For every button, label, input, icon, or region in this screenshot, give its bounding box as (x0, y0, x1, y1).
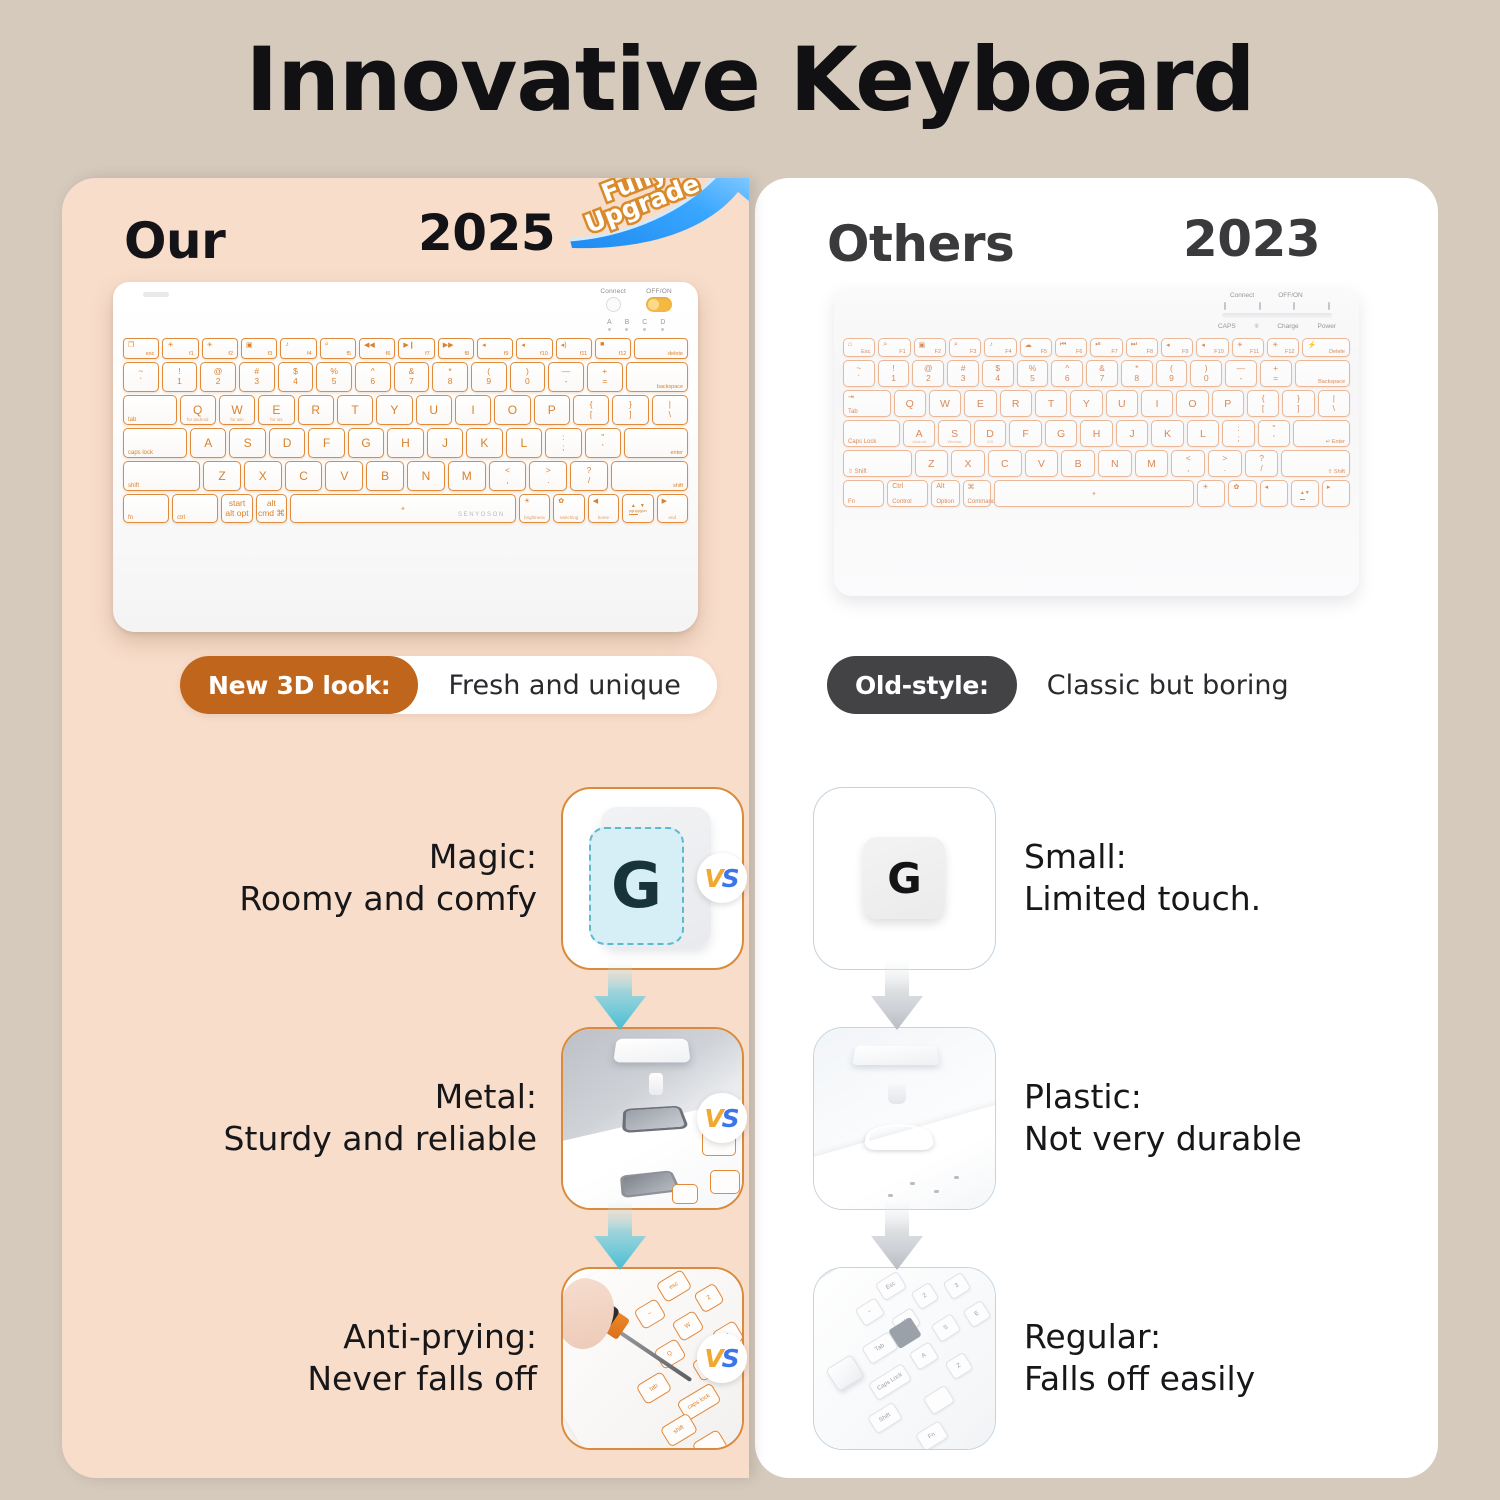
falling-keys-illustration: Esc 2 3 ~ W S E Tab A Z Caps Lock Shift … (814, 1268, 995, 1449)
left-panel-label: Our (124, 212, 225, 270)
key-\[interactable]: |\ (1318, 390, 1350, 417)
key-command[interactable]: ⌘Command (963, 480, 991, 507)
key-'[interactable]: "' (1258, 420, 1290, 447)
connect-button-icon[interactable] (606, 297, 621, 312)
vs-badge-row-1: VS (697, 853, 747, 903)
our-keyboard-status-cluster: Connect OFF/ON A B C D (600, 288, 672, 331)
our-keyboard-topbar: Connect OFF/ON A B C D (119, 282, 692, 338)
fully-upgrade-text: Fully Upgrade (574, 178, 703, 236)
left-tagline: New 3D look: Fresh and unique (180, 656, 717, 714)
key-5[interactable]: %5 (316, 362, 352, 392)
key-9[interactable]: (9 (1156, 360, 1188, 387)
key-7[interactable]: &7 (1086, 360, 1118, 387)
key-row: fnctrlstartalt optaltcmd ⌘✦SENYOSON☀brig… (119, 494, 692, 526)
key-delete[interactable]: ⚡Delete (1302, 338, 1350, 357)
others-keyboard: Connect OFF/ON CAPS ⌾ (834, 288, 1359, 596)
feature-desc: Roomy and comfy (239, 878, 537, 920)
key-f2[interactable]: ▣F2 (914, 338, 946, 357)
key-b[interactable]: B (1061, 450, 1095, 477)
key-h[interactable]: H (387, 428, 423, 458)
key-g[interactable]: G (1045, 420, 1077, 447)
key-f12[interactable]: ☀F12 (1267, 338, 1299, 357)
key-f10[interactable]: ◂F10 (1196, 338, 1228, 357)
key-f5[interactable]: ☁F5 (1020, 338, 1052, 357)
key-8[interactable]: *8 (1121, 360, 1153, 387)
feature-title: Plastic: (1024, 1076, 1302, 1118)
key-e[interactable]: E (964, 390, 996, 417)
key-row: caps lockASDFGHJKL:;"'enter (119, 428, 692, 461)
left-feature-rows: Magic: Roomy and comfy G Metal: Sturdy a… (62, 758, 749, 1478)
feature-title: Small: (1024, 836, 1261, 878)
key-tab[interactable]: ⇥Tab (843, 390, 891, 417)
key-0[interactable]: )0 (1190, 360, 1222, 387)
key--[interactable]: —- (1225, 360, 1257, 387)
our-keyboard-keys[interactable]: ❐esc☀f1☀f2▣f3♪f4⌕f5◀◀f6▶❙f7▶▶f8◂f9◂f10◂)… (119, 338, 692, 526)
key--[interactable]: —- (548, 362, 584, 392)
key-7[interactable]: &7 (394, 362, 430, 392)
key-f4[interactable]: ♪F4 (984, 338, 1016, 357)
power-label: OFF/ON (646, 288, 672, 295)
key-option[interactable]: AltOption (931, 480, 959, 507)
key-m[interactable]: M (448, 461, 486, 491)
key-][interactable]: }] (1282, 390, 1314, 417)
key-◂[interactable]: ◂ (1260, 480, 1288, 507)
key-f1[interactable]: ☀f1 (162, 338, 198, 359)
key-z[interactable]: Z (203, 461, 241, 491)
vs-s: S (722, 864, 740, 893)
key-x[interactable]: X (951, 450, 985, 477)
key-][interactable]: }] (612, 395, 648, 425)
right-feature-rows: G Small: Limited touch. (755, 758, 1438, 1478)
led-indicator: B (625, 319, 630, 331)
key-f8[interactable]: ⏭F8 (1126, 338, 1158, 357)
led-indicator-group: A B C D (600, 319, 672, 331)
key-f9[interactable]: ◂F9 (1161, 338, 1193, 357)
key-/[interactable]: ?/ (570, 461, 608, 491)
key-▸[interactable]: ▸ (1322, 480, 1350, 507)
key-2[interactable]: @2 (912, 360, 944, 387)
right-panel-year: 2023 (1183, 210, 1320, 268)
key-▶[interactable]: ▶end (657, 494, 688, 523)
key-arrow-half[interactable]: ▲pgup (629, 502, 638, 516)
key-tab[interactable]: tab (123, 395, 177, 425)
figure-small-key: G (813, 787, 996, 970)
key-[[interactable]: {[ (1247, 390, 1279, 417)
key-f7[interactable]: ▶❙f7 (398, 338, 434, 359)
blue-arrow-icon (562, 178, 749, 264)
key-f4[interactable]: ♪f4 (280, 338, 316, 359)
key-/[interactable]: ?/ (1245, 450, 1279, 477)
key-z[interactable]: Z (915, 450, 949, 477)
right-panel-label: Others (827, 215, 1014, 273)
key-row: FnCtrlControlAltOption⌘Command✦☀✿◂▲▼▸ (839, 480, 1354, 510)
key-o[interactable]: O (1176, 390, 1208, 417)
key-row: ⌂Esc⌕F1▣F2⌕F3♪F4☁F5⏮F6⏯F7⏭F8◂F9◂F10☀F11☀… (839, 338, 1354, 360)
key-f11[interactable]: ◂)f11 (556, 338, 592, 359)
key-f12[interactable]: ■f12 (595, 338, 631, 359)
key-,[interactable]: <, (1171, 450, 1205, 477)
key-⇧-shift[interactable]: ⇧ Shift (843, 450, 912, 477)
plastic-clip-illustration (814, 1028, 995, 1209)
key-d[interactable]: D (269, 428, 305, 458)
key-y[interactable]: Y (1070, 390, 1102, 417)
status-tick (1293, 302, 1295, 310)
feature-desc: Falls off easily (1024, 1358, 1255, 1400)
key-4[interactable]: $4 (982, 360, 1014, 387)
key-f9[interactable]: ◂f9 (477, 338, 513, 359)
key-row: tabQfor androidWfor winEfor iosRTYUIOP{[… (119, 395, 692, 428)
key-l[interactable]: L (1187, 420, 1219, 447)
vs-s: S (722, 1344, 740, 1373)
key-t[interactable]: T (337, 395, 373, 425)
feature-title: Regular: (1024, 1316, 1255, 1358)
right-tagline: Old-style: Classic but boring (827, 656, 1289, 714)
led-indicator: C (642, 319, 647, 331)
key-n[interactable]: N (407, 461, 445, 491)
feature-row-anti-prying: Anti-prying: Never falls off esc 2 ~ W S… (62, 1238, 749, 1478)
vs-s: S (722, 1104, 740, 1133)
key-row: ~`!1@2#3$4%5^6&7*8(9)0—-+=Backspace (839, 360, 1354, 390)
connect-control[interactable]: Connect (600, 288, 626, 312)
connect-label: Connect (1230, 292, 1254, 299)
key-f11[interactable]: ☀F11 (1232, 338, 1264, 357)
key-fn[interactable]: Fn (843, 480, 884, 507)
status-bottom-labels: CAPS ⌾ Charge Power (1216, 318, 1338, 331)
key-3[interactable]: #3 (239, 362, 275, 392)
charge-label: Charge (1277, 323, 1298, 331)
key-c[interactable]: C (285, 461, 323, 491)
key-r[interactable]: R (298, 395, 334, 425)
key-`[interactable]: ~` (123, 362, 159, 392)
key-h[interactable]: H (1080, 420, 1112, 447)
power-status-label: Power (1318, 323, 1336, 331)
key-d[interactable]: DiOS (974, 420, 1006, 447)
key-8[interactable]: *8 (432, 362, 468, 392)
key-q[interactable]: Q (894, 390, 926, 417)
key-q[interactable]: Qfor android (180, 395, 216, 425)
feature-text-metal: Metal: Sturdy and reliable (224, 1076, 537, 1160)
key-5[interactable]: %5 (1017, 360, 1049, 387)
key-f2[interactable]: ☀f2 (202, 338, 238, 359)
key-☀[interactable]: ☀ (1197, 480, 1225, 507)
key-w[interactable]: Wfor win (219, 395, 255, 425)
key-esc[interactable]: ⌂Esc (843, 338, 875, 357)
key-f7[interactable]: ⏯F7 (1090, 338, 1122, 357)
key-`[interactable]: ~` (843, 360, 875, 387)
key-c[interactable]: C (988, 450, 1022, 477)
badge-line-1: Fully (574, 178, 694, 215)
key-6[interactable]: ^6 (1051, 360, 1083, 387)
key-w[interactable]: W (929, 390, 961, 417)
left-tagline-chip: New 3D look: (180, 656, 418, 714)
key-u[interactable]: U (1106, 390, 1138, 417)
key-backspace[interactable]: Backspace (1295, 360, 1351, 387)
key-3[interactable]: #3 (947, 360, 979, 387)
key-4[interactable]: $4 (278, 362, 314, 392)
key-✿[interactable]: ✿switching (553, 494, 584, 523)
key-t[interactable]: T (1035, 390, 1067, 417)
key-=[interactable]: += (587, 362, 623, 392)
right-tagline-text: Classic but boring (1017, 670, 1289, 701)
key-space[interactable]: ✦SENYOSON (290, 494, 516, 523)
key-f6[interactable]: ◀◀f6 (359, 338, 395, 359)
right-panel-header: Others 2023 (755, 178, 1438, 274)
others-keyboard-keys[interactable]: ⌂Esc⌕F1▣F2⌕F3♪F4☁F5⏮F6⏯F7⏭F8◂F9◂F10☀F11☀… (839, 338, 1354, 510)
key-f6[interactable]: ⏮F6 (1055, 338, 1087, 357)
led-indicator: A (607, 319, 612, 331)
feature-text-magic: Magic: Roomy and comfy (239, 836, 537, 920)
badge-line-2: Upgrade (582, 178, 702, 236)
key-1[interactable]: !1 (162, 362, 198, 392)
key-⇧-shift[interactable]: ⇧ Shift (1281, 450, 1350, 477)
feature-title: Anti-prying: (307, 1316, 537, 1358)
connect-label: Connect (600, 288, 626, 295)
key-fn[interactable]: fn (123, 494, 169, 523)
page-title: Innovative Keyboard (0, 0, 1500, 129)
key-f3[interactable]: ⌕F3 (949, 338, 981, 357)
down-arrow-teal-2 (592, 1200, 648, 1272)
right-tagline-chip: Old-style: (827, 656, 1017, 714)
key-f5[interactable]: ⌕f5 (320, 338, 356, 359)
key-control[interactable]: CtrlControl (887, 480, 928, 507)
key-j[interactable]: J (1116, 420, 1148, 447)
key-i[interactable]: I (1141, 390, 1173, 417)
key-ctrl[interactable]: ctrl (172, 494, 218, 523)
key-◀[interactable]: ◀home (588, 494, 619, 523)
led-indicator: D (660, 319, 665, 331)
feature-text-anti-prying: Anti-prying: Never falls off (307, 1316, 537, 1400)
key-arrow-stack[interactable]: ▲▼ (1291, 480, 1319, 507)
feature-text-plastic: Plastic: Not very durable (1024, 1076, 1302, 1160)
our-keyboard-figure: Connect OFF/ON A B C D (62, 282, 749, 632)
caps-label: CAPS (1218, 323, 1236, 331)
key-r[interactable]: R (1000, 390, 1032, 417)
key-0[interactable]: )0 (510, 362, 546, 392)
key-f3[interactable]: ▣f3 (241, 338, 277, 359)
our-keyboard: Connect OFF/ON A B C D (113, 282, 698, 632)
feature-text-small: Small: Limited touch. (1024, 836, 1261, 920)
key-s[interactable]: SWindow (938, 420, 970, 447)
key-;[interactable]: :; (545, 428, 581, 458)
key-e[interactable]: Efor ios (258, 395, 294, 425)
left-tagline-text: Fresh and unique (418, 670, 680, 701)
others-keyboard-figure: Connect OFF/ON CAPS ⌾ (755, 288, 1438, 596)
key-6[interactable]: ^6 (355, 362, 391, 392)
key-space[interactable]: ✦ (994, 480, 1195, 507)
feature-desc: Limited touch. (1024, 878, 1261, 920)
status-tick (1259, 302, 1261, 310)
key-'[interactable]: "' (585, 428, 621, 458)
keycap-letter: G (589, 827, 684, 945)
key-.[interactable]: >. (1208, 450, 1242, 477)
key-arrow-half[interactable]: ▼ (1305, 487, 1310, 500)
power-label: OFF/ON (1278, 292, 1303, 299)
vs-badge-row-3: VS (697, 1333, 747, 1383)
key-shift[interactable]: shift (123, 461, 200, 491)
key-o[interactable]: O (494, 395, 530, 425)
comparison-panels: Our 2025 Fully Upgrade (62, 178, 1438, 1478)
key-2[interactable]: @2 (200, 362, 236, 392)
key-caps-lock[interactable]: caps lock (123, 428, 187, 458)
key-1[interactable]: !1 (878, 360, 910, 387)
key-caps-lock[interactable]: Caps Lock (843, 420, 900, 447)
power-control[interactable]: OFF/ON (646, 288, 672, 312)
key-m[interactable]: M (1135, 450, 1169, 477)
key-row: ~`!1@2#3$4%5^6&7*8(9)0—-+=backspace (119, 362, 692, 395)
key-↵-enter[interactable]: ↵ Enter (1293, 420, 1350, 447)
key-cmd ⌘[interactable]: altcmd ⌘ (256, 494, 287, 523)
key-;[interactable]: :; (1222, 420, 1254, 447)
key-row: shiftZXCVBNM<,>.?/shift (119, 461, 692, 494)
key-n[interactable]: N (1098, 450, 1132, 477)
key-arrow-half[interactable]: ▼pgdn (638, 502, 647, 516)
key-[[interactable]: {[ (573, 395, 609, 425)
down-arrow-gray-2 (869, 1200, 925, 1272)
feature-desc: Sturdy and reliable (224, 1118, 537, 1160)
key-row: ⇧ ShiftZXCVBNM<,>.?/⇧ Shift (839, 450, 1354, 480)
figure-keys-falling-off: Esc 2 3 ~ W S E Tab A Z Caps Lock Shift … (813, 1267, 996, 1450)
wifi-icon: ⌾ (1255, 323, 1259, 331)
key-arrow-stack[interactable]: ▲pgup▼pgdn (622, 494, 653, 523)
key-alt opt[interactable]: startalt opt (221, 494, 252, 523)
key-k[interactable]: K (466, 428, 502, 458)
fully-upgrade-badge: Fully Upgrade (562, 178, 749, 264)
key-shift[interactable]: shift (611, 461, 688, 491)
key-v[interactable]: V (1025, 450, 1059, 477)
feature-title: Magic: (239, 836, 537, 878)
key-b[interactable]: B (366, 461, 404, 491)
small-keycap-letter: G (863, 837, 945, 919)
key-row: Caps LockAAndroidSWindowDiOSFGHJKL:;"'↵ … (839, 420, 1354, 450)
key-.[interactable]: >. (529, 461, 567, 491)
key-f8[interactable]: ▶▶f8 (438, 338, 474, 359)
key-j[interactable]: J (427, 428, 463, 458)
key-f[interactable]: F (1009, 420, 1041, 447)
key-f10[interactable]: ◂f10 (516, 338, 552, 359)
key-☀[interactable]: ☀brightness (519, 494, 550, 523)
key-k[interactable]: K (1151, 420, 1183, 447)
key-row: ⇥TabQWERTYUIOP{[}]|\ (839, 390, 1354, 420)
vs-badge-row-2: VS (697, 1093, 747, 1143)
feature-desc: Not very durable (1024, 1118, 1302, 1160)
key-y[interactable]: Y (376, 395, 412, 425)
key-✿[interactable]: ✿ (1228, 480, 1256, 507)
feature-row-regular: Esc 2 3 ~ W S E Tab A Z Caps Lock Shift … (755, 1238, 1438, 1478)
key-enter[interactable]: enter (624, 428, 688, 458)
feature-text-regular: Regular: Falls off easily (1024, 1316, 1255, 1400)
key-backspace[interactable]: backspace (626, 362, 689, 392)
feature-title: Metal: (224, 1076, 537, 1118)
key-f[interactable]: F (308, 428, 344, 458)
key-u[interactable]: U (416, 395, 452, 425)
key-p[interactable]: P (1212, 390, 1244, 417)
keyboard-brand-label: SENYOSON (458, 512, 505, 518)
key-a[interactable]: AAndroid (903, 420, 935, 447)
key-x[interactable]: X (244, 461, 282, 491)
key-l[interactable]: L (506, 428, 542, 458)
status-tick (1328, 302, 1330, 310)
panel-our-product: Our 2025 Fully Upgrade (62, 178, 749, 1478)
feature-desc: Never falls off (307, 1358, 537, 1400)
others-keyboard-status-cluster: Connect OFF/ON CAPS ⌾ (1216, 292, 1338, 331)
down-arrow-gray-1 (869, 960, 925, 1032)
left-panel-year: 2025 (418, 204, 555, 262)
down-arrow-teal-1 (592, 960, 648, 1032)
key-row: ❐esc☀f1☀f2▣f3♪f4⌕f5◀◀f6▶❙f7▶▶f8◂f9◂f10◂)… (119, 338, 692, 362)
key-v[interactable]: V (325, 461, 363, 491)
status-tick (1224, 302, 1226, 310)
key-i[interactable]: I (455, 395, 491, 425)
key-esc[interactable]: ❐esc (123, 338, 159, 359)
power-toggle-icon[interactable] (646, 297, 672, 312)
feature-row-plastic: Plastic: Not very durable (755, 998, 1438, 1238)
key-\[interactable]: |\ (652, 395, 688, 425)
key-delete[interactable]: delete (634, 338, 688, 359)
key-s[interactable]: S (229, 428, 265, 458)
key-9[interactable]: (9 (471, 362, 507, 392)
key-p[interactable]: P (534, 395, 570, 425)
others-keyboard-topbar: Connect OFF/ON CAPS ⌾ (839, 288, 1354, 338)
keyboard-notch (143, 292, 169, 297)
left-panel-header: Our 2025 Fully Upgrade (62, 178, 749, 274)
key-,[interactable]: <, (489, 461, 527, 491)
feature-row-small: G Small: Limited touch. (755, 758, 1438, 998)
panel-others-product: Others 2023 Connect OFF/ON (755, 178, 1438, 1478)
key-=[interactable]: += (1260, 360, 1292, 387)
key-g[interactable]: G (348, 428, 384, 458)
key-f1[interactable]: ⌕F1 (878, 338, 910, 357)
figure-plastic-mechanism (813, 1027, 996, 1210)
key-a[interactable]: A (190, 428, 226, 458)
